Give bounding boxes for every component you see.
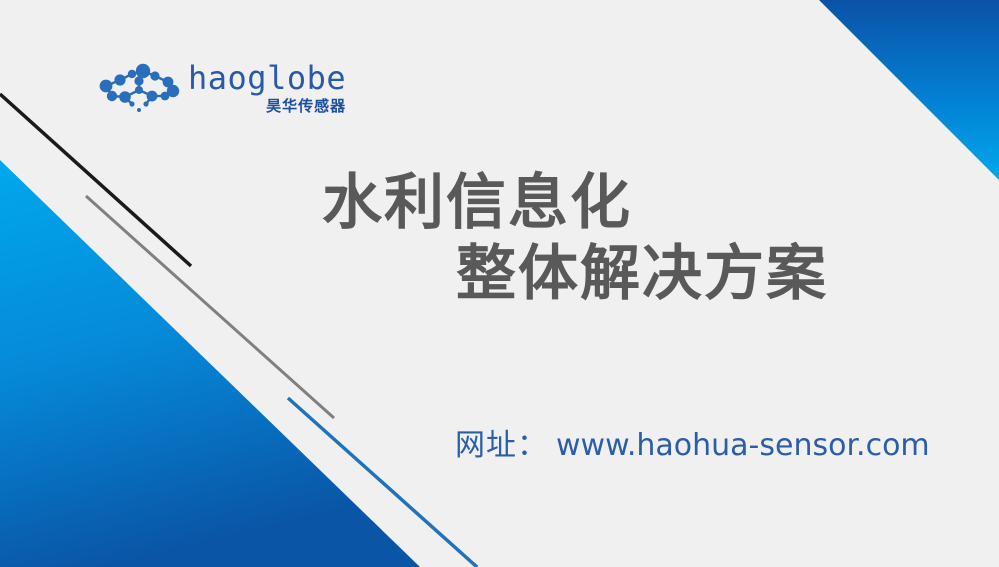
website-label: 网址： <box>455 420 548 464</box>
network-nodes-icon <box>96 60 182 118</box>
company-logo: haoglobe 昊华传感器 <box>96 58 311 120</box>
logo-chinese-subtitle: 昊华传感器 <box>266 99 346 114</box>
title-line-1: 水利信息化 <box>322 168 999 239</box>
presentation-slide: haoglobe 昊华传感器 水利信息化 整体解决方案 网址： www.haoh… <box>0 0 999 567</box>
slide-title: 水利信息化 整体解决方案 <box>0 168 999 310</box>
title-line-2: 整体解决方案 <box>456 239 999 310</box>
blue-diagonal-line <box>288 398 477 567</box>
logo-wordmark: haoglobe <box>188 62 346 94</box>
top-right-blue-triangle <box>819 0 999 180</box>
website-line: 网址： www.haohua-sensor.com <box>455 420 930 464</box>
website-url[interactable]: www.haohua-sensor.com <box>556 428 930 463</box>
